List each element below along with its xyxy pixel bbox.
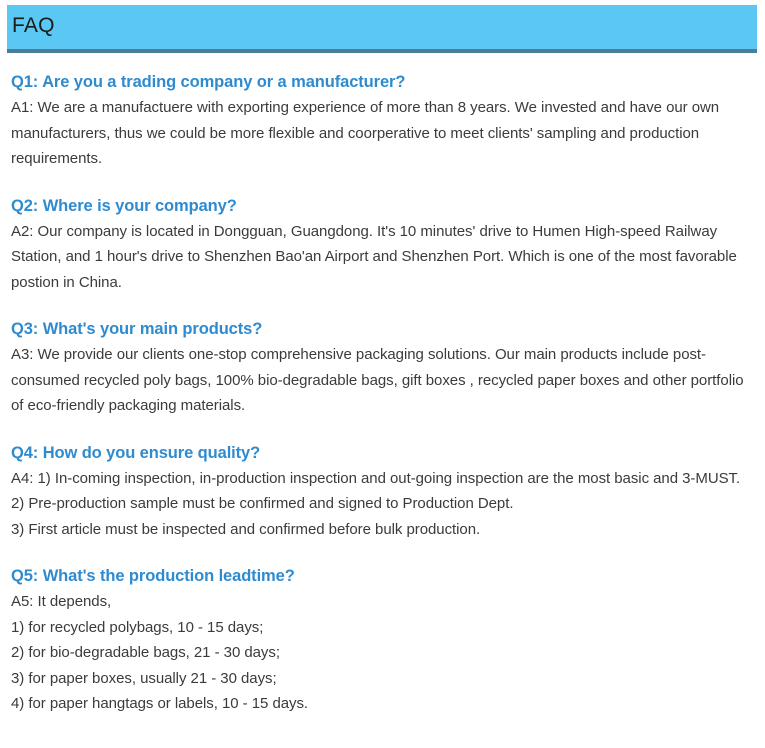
faq-question: Q1: Are you a trading company or a manuf…: [11, 70, 753, 94]
faq-header-banner: FAQ: [7, 5, 757, 53]
faq-answer: A4: 1) In-coming inspection, in-producti…: [11, 466, 753, 543]
faq-answer: A5: It depends, 1) for recycled polybags…: [11, 589, 753, 717]
faq-answer-line: 2) for bio-degradable bags, 21 - 30 days…: [11, 640, 753, 666]
faq-item: Q4: How do you ensure quality? A4: 1) In…: [11, 441, 753, 543]
faq-item: Q5: What's the production leadtime? A5: …: [11, 564, 753, 717]
faq-item: Q1: Are you a trading company or a manuf…: [11, 70, 753, 172]
faq-answer: A3: We provide our clients one-stop comp…: [11, 342, 753, 419]
faq-answer-line: 1) for recycled polybags, 10 - 15 days;: [11, 615, 753, 641]
faq-answer-line: 3) First article must be inspected and c…: [11, 517, 753, 543]
faq-question: Q3: What's your main products?: [11, 317, 753, 341]
faq-question: Q4: How do you ensure quality?: [11, 441, 753, 465]
faq-item: Q2: Where is your company? A2: Our compa…: [11, 194, 753, 296]
faq-answer-line: 3) for paper boxes, usually 21 - 30 days…: [11, 666, 753, 692]
page-title: FAQ: [12, 12, 55, 40]
faq-answer-line: 2) Pre-production sample must be confirm…: [11, 491, 753, 517]
faq-list: Q1: Are you a trading company or a manuf…: [11, 70, 753, 717]
faq-question: Q5: What's the production leadtime?: [11, 564, 753, 588]
faq-question: Q2: Where is your company?: [11, 194, 753, 218]
faq-answer: A1: We are a manufactuere with exporting…: [11, 95, 753, 172]
faq-answer-line: 4) for paper hangtags or labels, 10 - 15…: [11, 691, 753, 717]
faq-answer-line: A4: 1) In-coming inspection, in-producti…: [11, 466, 753, 492]
faq-answer: A2: Our company is located in Dongguan, …: [11, 219, 753, 296]
faq-page: FAQ Q1: Are you a trading company or a m…: [0, 0, 765, 748]
faq-item: Q3: What's your main products? A3: We pr…: [11, 317, 753, 419]
faq-answer-line: A5: It depends,: [11, 589, 753, 615]
